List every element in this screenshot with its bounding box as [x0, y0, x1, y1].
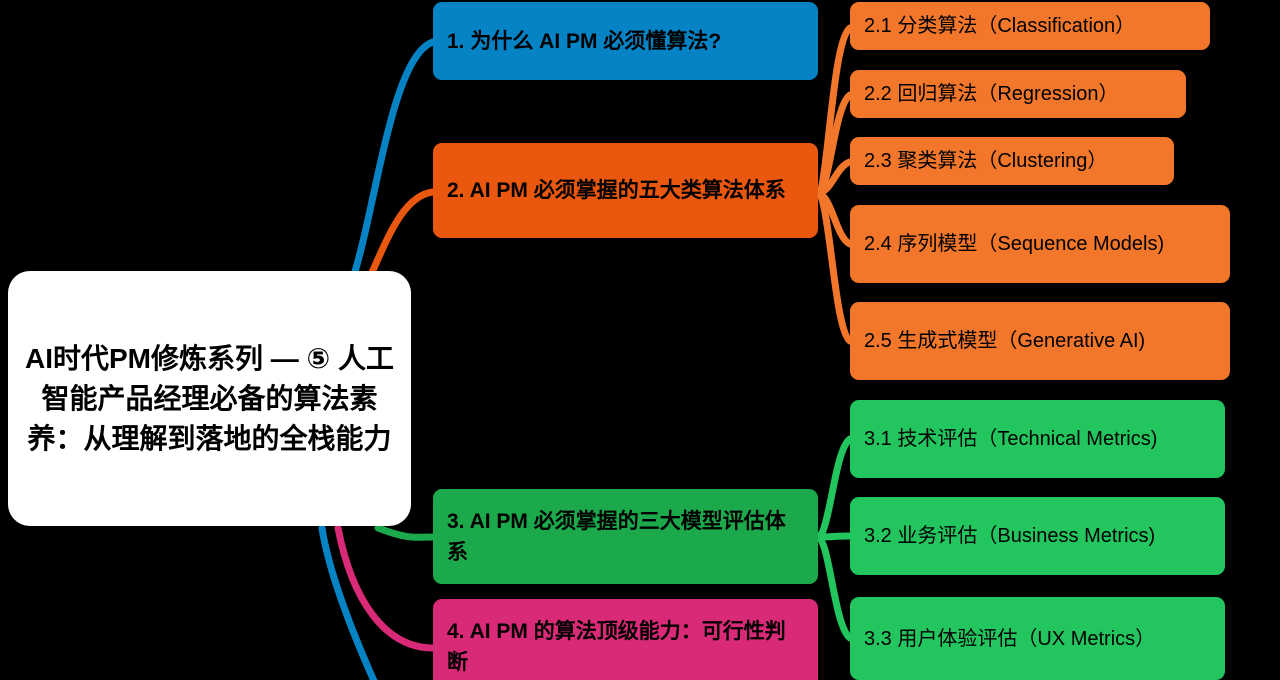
edge-branch-3-to-3-1	[818, 439, 850, 537]
leaf-node-2-5-label: 2.5 生成式模型（Generative AI)	[864, 326, 1216, 356]
leaf-node-2-4-label: 2.4 序列模型（Sequence Models)	[864, 229, 1216, 259]
leaf-node-2-2-label: 2.2 回归算法（Regression）	[864, 79, 1172, 109]
edge-branch-2-to-2-3	[818, 162, 850, 193]
edge-branch-3-to-3-2	[818, 536, 850, 537]
leaf-node-2-3[interactable]: 2.3 聚类算法（Clustering）	[850, 137, 1174, 185]
leaf-node-3-3-label: 3.3 用户体验评估（UX Metrics）	[864, 624, 1211, 654]
leaf-node-3-3[interactable]: 3.3 用户体验评估（UX Metrics）	[850, 597, 1225, 680]
branch-node-3[interactable]: 3. AI PM 必须掌握的三大模型评估体系	[433, 489, 818, 584]
branch-node-4[interactable]: 4. AI PM 的算法顶级能力：可行性判断	[433, 599, 818, 680]
branch-node-2[interactable]: 2. AI PM 必须掌握的五大类算法体系	[433, 143, 818, 238]
edge-root-to-branch-5-offscreen	[322, 528, 378, 680]
root-node-label: AI时代PM修炼系列 — ⑤ 人工智能产品经理必备的算法素养：从理解到落地的全栈…	[24, 339, 395, 459]
edge-branch-2-to-2-4	[818, 193, 850, 244]
leaf-node-3-2-label: 3.2 业务评估（Business Metrics)	[864, 521, 1211, 551]
edge-branch-2-to-2-1	[818, 28, 850, 193]
mindmap-canvas: AI时代PM修炼系列 — ⑤ 人工智能产品经理必备的算法素养：从理解到落地的全栈…	[0, 0, 1280, 680]
edge-branch-3-to-3-3	[818, 537, 850, 638]
leaf-node-2-1[interactable]: 2.1 分类算法（Classification）	[850, 2, 1210, 50]
edge-root-to-branch-3	[378, 528, 433, 537]
branch-node-4-label: 4. AI PM 的算法顶级能力：可行性判断	[447, 616, 804, 678]
leaf-node-3-1-label: 3.1 技术评估（Technical Metrics)	[864, 424, 1211, 454]
leaf-node-2-4[interactable]: 2.4 序列模型（Sequence Models)	[850, 205, 1230, 283]
edge-branch-2-to-2-5	[818, 193, 850, 341]
leaf-node-2-1-label: 2.1 分类算法（Classification）	[864, 11, 1196, 41]
edge-root-to-branch-4	[338, 528, 433, 648]
leaf-node-2-2[interactable]: 2.2 回归算法（Regression）	[850, 70, 1186, 118]
branch-node-1-label: 1. 为什么 AI PM 必须懂算法?	[447, 26, 804, 57]
branch-node-3-label: 3. AI PM 必须掌握的三大模型评估体系	[447, 506, 804, 568]
branch-node-1[interactable]: 1. 为什么 AI PM 必须懂算法?	[433, 2, 818, 80]
leaf-node-3-2[interactable]: 3.2 业务评估（Business Metrics)	[850, 497, 1225, 575]
edge-branch-2-to-2-2	[818, 95, 850, 193]
leaf-node-2-5[interactable]: 2.5 生成式模型（Generative AI)	[850, 302, 1230, 380]
leaf-node-3-1[interactable]: 3.1 技术评估（Technical Metrics)	[850, 400, 1225, 478]
leaf-node-2-3-label: 2.3 聚类算法（Clustering）	[864, 146, 1160, 176]
root-node[interactable]: AI时代PM修炼系列 — ⑤ 人工智能产品经理必备的算法素养：从理解到落地的全栈…	[8, 271, 411, 526]
branch-node-2-label: 2. AI PM 必须掌握的五大类算法体系	[447, 175, 804, 206]
